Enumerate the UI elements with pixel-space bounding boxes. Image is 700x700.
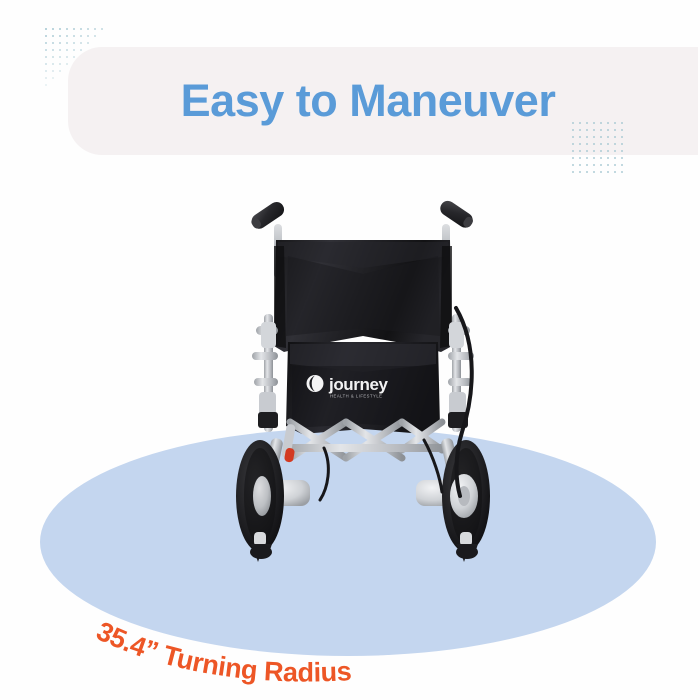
dot: [52, 70, 54, 72]
dot: [600, 171, 602, 173]
dot: [572, 157, 574, 159]
dot: [45, 63, 47, 65]
dot: [607, 164, 609, 166]
cable-center: [320, 448, 328, 500]
dot: [66, 28, 68, 30]
dot-row: [45, 28, 108, 35]
dot: [45, 28, 47, 30]
dot: [593, 164, 595, 166]
dot: [59, 63, 61, 65]
dot: [59, 35, 61, 37]
dot: [607, 157, 609, 159]
dot: [45, 77, 47, 79]
dot: [45, 49, 47, 51]
dot: [94, 35, 96, 37]
dot: [579, 164, 581, 166]
dot: [45, 35, 47, 37]
dot: [87, 42, 89, 44]
frame-joint-left: [258, 412, 278, 428]
dot: [66, 35, 68, 37]
dot: [73, 28, 75, 30]
dot: [52, 77, 54, 79]
dot: [579, 157, 581, 159]
dot: [593, 171, 595, 173]
dot: [73, 35, 75, 37]
dot: [52, 28, 54, 30]
dot-row: [572, 171, 628, 178]
dot: [59, 42, 61, 44]
dot: [586, 164, 588, 166]
product-image-wheelchair: journey HEALTH & LIFESTYLE: [228, 196, 498, 576]
dot: [87, 28, 89, 30]
dot: [607, 171, 609, 173]
dot: [621, 164, 623, 166]
dot: [614, 164, 616, 166]
dot-row: [45, 35, 108, 42]
dot: [66, 42, 68, 44]
dot: [621, 171, 623, 173]
dot: [52, 56, 54, 58]
svg-text:journey: journey: [328, 375, 389, 394]
caption-turning-radius: 35.4” Turning Radius: [80, 600, 500, 690]
dot: [45, 42, 47, 44]
cross-bar: [284, 444, 446, 452]
dot: [579, 171, 581, 173]
svg-text:HEALTH & LIFESTYLE: HEALTH & LIFESTYLE: [330, 394, 382, 399]
marketing-image: Easy to Maneuver: [0, 0, 700, 700]
dot: [59, 28, 61, 30]
dot: [59, 70, 61, 72]
dot: [87, 35, 89, 37]
dot: [586, 171, 588, 173]
dot: [52, 42, 54, 44]
dot: [52, 49, 54, 51]
backrest: [274, 240, 452, 352]
dot: [59, 49, 61, 51]
dot: [586, 157, 588, 159]
dot: [80, 28, 82, 30]
dot: [600, 157, 602, 159]
dot: [80, 42, 82, 44]
dot: [52, 35, 54, 37]
dot: [614, 157, 616, 159]
dot: [45, 56, 47, 58]
dot: [45, 70, 47, 72]
dot: [101, 28, 103, 30]
page-title: Easy to Maneuver: [68, 47, 668, 155]
dot: [73, 42, 75, 44]
dot-row: [572, 157, 628, 164]
dot: [572, 171, 574, 173]
caption-text: 35.4” Turning Radius: [92, 616, 352, 688]
dot: [621, 157, 623, 159]
dot: [52, 63, 54, 65]
dot: [600, 164, 602, 166]
dot: [80, 35, 82, 37]
dot: [614, 171, 616, 173]
dot: [45, 84, 47, 86]
dot: [94, 28, 96, 30]
dot: [59, 56, 61, 58]
dot: [593, 157, 595, 159]
dot-row: [572, 164, 628, 171]
suspension-damper: [281, 424, 296, 463]
dot: [572, 164, 574, 166]
